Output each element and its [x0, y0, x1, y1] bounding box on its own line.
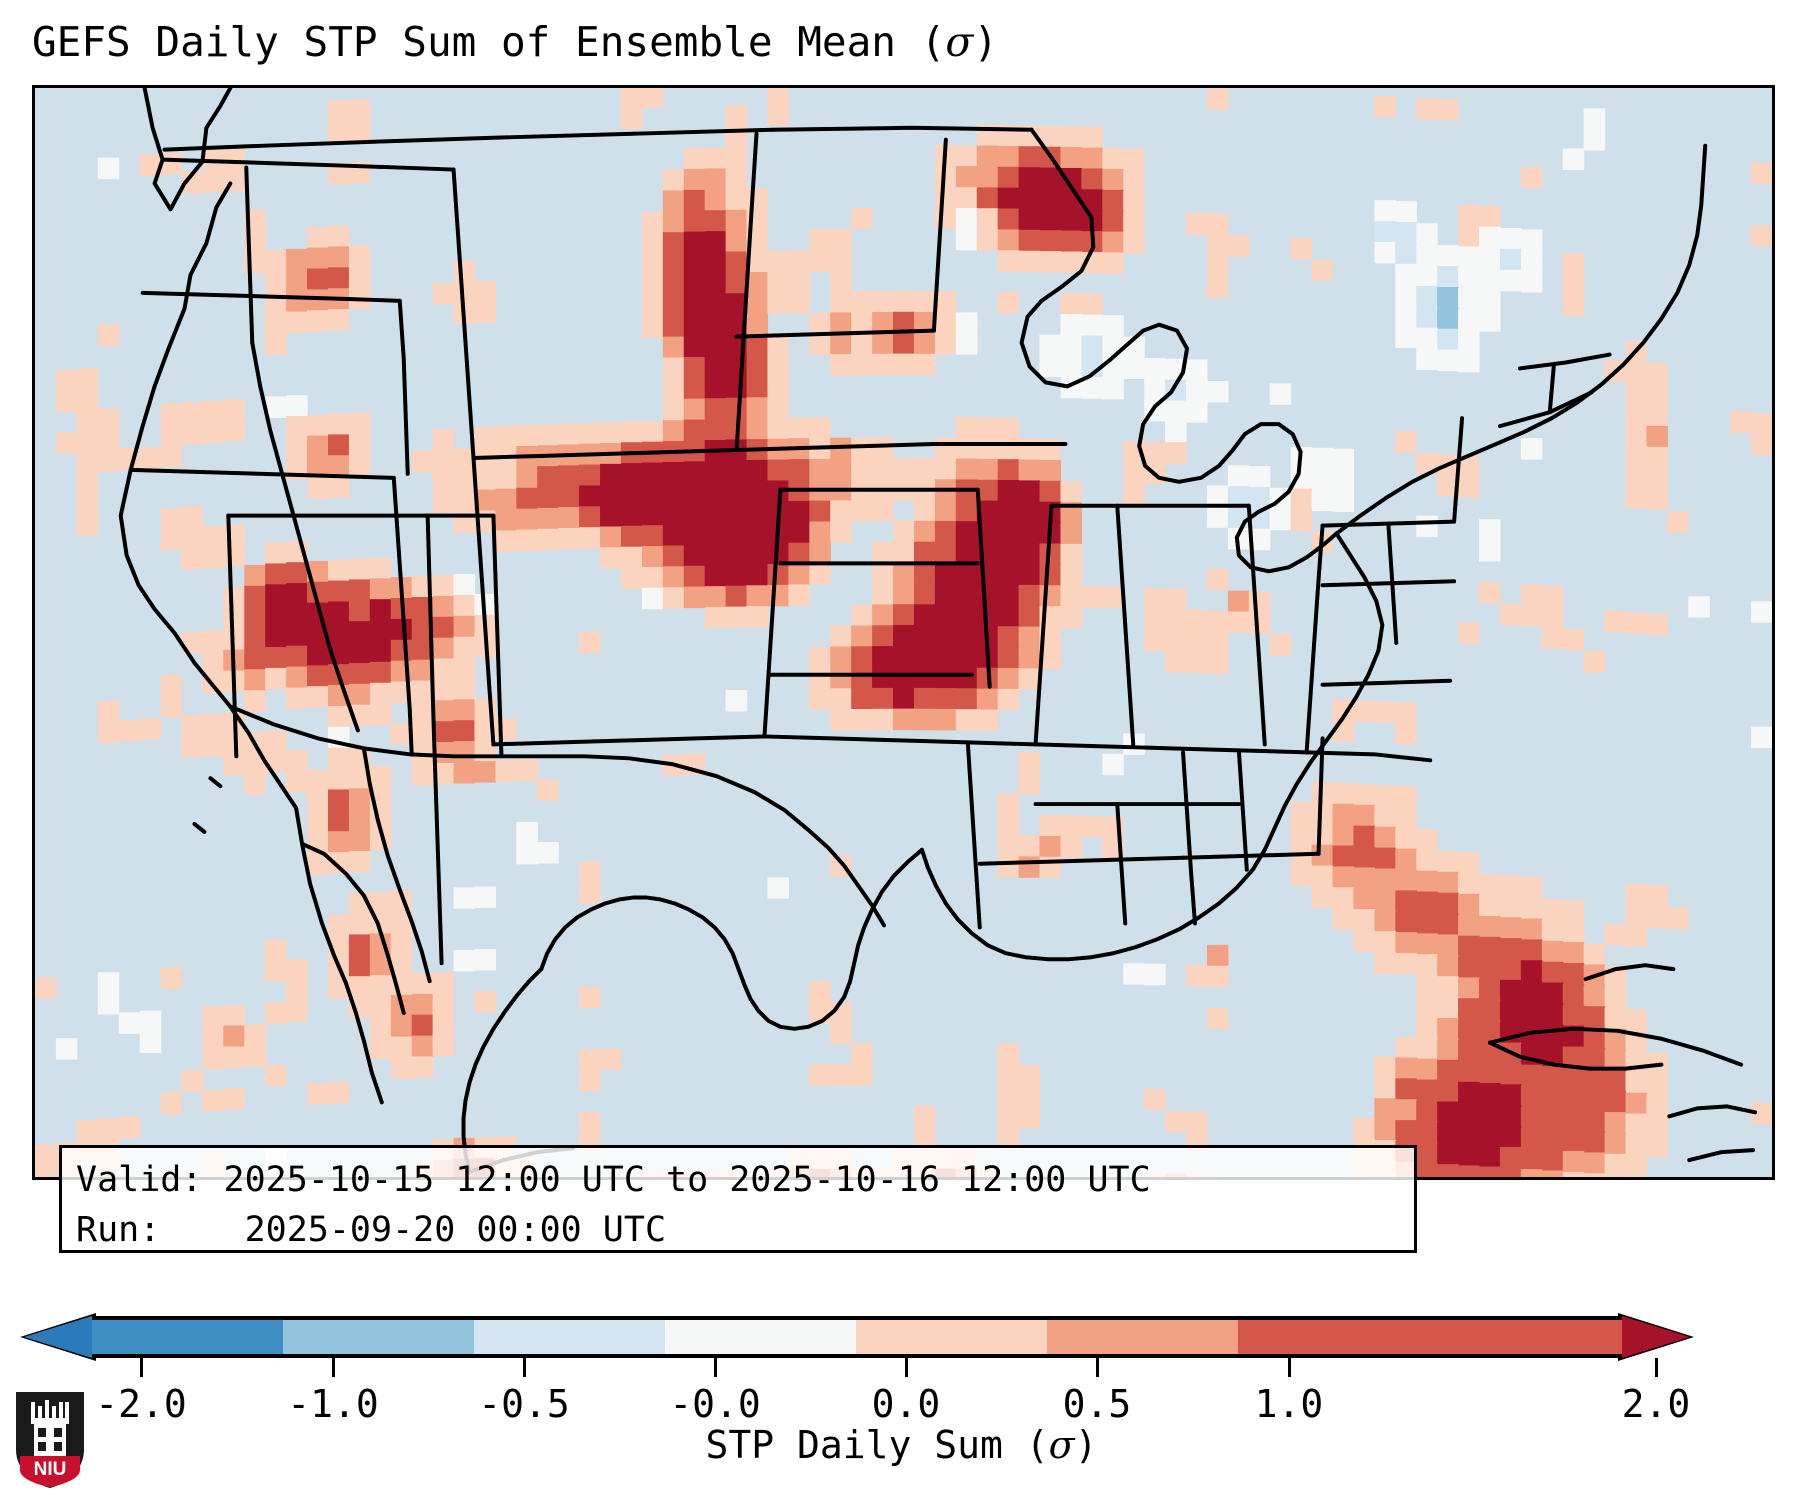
heatmap-cell — [181, 736, 203, 757]
heatmap-cell — [1249, 591, 1271, 612]
heatmap-cell — [705, 419, 727, 440]
heatmap-cell — [998, 689, 1020, 710]
heatmap-cell — [244, 628, 266, 649]
heatmap-cell — [1207, 256, 1229, 277]
heatmap-cell — [1395, 890, 1417, 911]
heatmap-cell — [265, 626, 287, 647]
heatmap-cell — [726, 105, 748, 126]
heatmap-cell — [1458, 267, 1480, 288]
heatmap-cell — [349, 559, 371, 580]
heatmap-cell — [956, 542, 978, 563]
heatmap-cell — [1019, 460, 1041, 481]
heatmap-cell — [1270, 634, 1292, 655]
colorbar-tick-label-7: 2.0 — [1622, 1382, 1691, 1426]
heatmap-cell — [1416, 1017, 1438, 1038]
heatmap-cell — [244, 669, 266, 690]
colorbar-segment-5 — [1047, 1320, 1238, 1354]
heatmap-cell — [1416, 871, 1438, 892]
heatmap-cell — [788, 250, 810, 271]
heatmap-cell — [1563, 253, 1585, 274]
heatmap-cell — [1102, 190, 1124, 211]
heatmap-cell — [998, 188, 1020, 209]
heatmap-cell — [1374, 96, 1396, 117]
heatmap-cell — [872, 437, 894, 458]
heatmap-cell — [998, 564, 1020, 585]
heatmap-cell — [1563, 1005, 1585, 1026]
heatmap-cell — [1542, 920, 1564, 941]
heatmap-cell — [1123, 190, 1145, 211]
heatmap-cell — [370, 683, 392, 704]
heatmap-cell — [1395, 1099, 1417, 1120]
heatmap-cell — [809, 313, 831, 334]
heatmap-cell — [1019, 522, 1041, 543]
heatmap-cell — [1500, 959, 1522, 980]
heatmap-cell — [1123, 358, 1145, 379]
colorbar-tick-label-6: 1.0 — [1255, 1382, 1324, 1426]
heatmap-cell — [914, 688, 936, 709]
heatmap-cell — [747, 356, 769, 377]
heatmap-cell — [1333, 783, 1355, 804]
heatmap-cell — [600, 464, 622, 485]
heatmap-cell — [391, 640, 413, 661]
heatmap-cell — [726, 586, 748, 607]
heatmap-cell — [579, 861, 601, 882]
heatmap-cell — [851, 625, 873, 646]
heatmap-cell — [1626, 487, 1648, 508]
colorbar-tick-label-0: -2.0 — [95, 1382, 187, 1426]
heatmap-cell — [579, 882, 601, 903]
heatmap-cell — [1458, 309, 1480, 330]
heatmap-cell — [809, 522, 831, 543]
heatmap-cell — [181, 1070, 203, 1091]
heatmap-cell — [1395, 431, 1417, 452]
heatmap-cell — [1395, 306, 1417, 327]
heatmap-cell — [1584, 108, 1606, 129]
heatmap-cell — [830, 1064, 852, 1085]
heatmap-cell — [788, 292, 810, 313]
heatmap-cell — [1458, 1082, 1480, 1103]
heatmap-cell — [705, 210, 727, 231]
heatmap-cell — [851, 1043, 873, 1064]
colorbar-tick-3 — [714, 1358, 717, 1377]
heatmap-cell — [872, 688, 894, 709]
heatmap-cell — [1458, 936, 1480, 957]
heatmap-cell — [1437, 350, 1459, 371]
heatmap-cell — [433, 638, 455, 659]
heatmap-cell — [998, 250, 1020, 271]
heatmap-cell — [1437, 1143, 1459, 1164]
heatmap-cell — [1374, 1056, 1396, 1077]
heatmap-cell — [1019, 480, 1041, 501]
heatmap-cell — [1019, 251, 1041, 272]
heatmap-cell — [1207, 485, 1229, 506]
heatmap-cell — [830, 688, 852, 709]
heatmap-cell — [1646, 1115, 1668, 1136]
heatmap-cell — [914, 291, 936, 312]
heatmap-cell — [454, 261, 476, 282]
heatmap-cell — [998, 1107, 1020, 1128]
heatmap-cell — [1437, 287, 1459, 308]
heatmap-cell — [1312, 886, 1334, 907]
heatmap-cell — [1416, 933, 1438, 954]
heatmap-cell — [412, 722, 434, 743]
heatmap-cell — [830, 709, 852, 730]
heatmap-cell — [935, 500, 957, 521]
heatmap-cell — [391, 619, 413, 640]
heatmap-cell — [1521, 981, 1543, 1002]
page-title-suffix: ) — [973, 18, 998, 66]
heatmap-cell — [956, 417, 978, 438]
heatmap-cell — [1060, 251, 1082, 272]
niu-banner-text: NIU — [34, 1459, 67, 1480]
heatmap-cell — [1458, 852, 1480, 873]
heatmap-cell — [726, 147, 748, 168]
heatmap-cell — [1584, 1111, 1606, 1132]
heatmap-cell — [1646, 906, 1668, 927]
heatmap-cell — [893, 333, 915, 354]
heatmap-cell — [181, 548, 203, 569]
heatmap-cell — [705, 315, 727, 336]
heatmap-cell — [579, 423, 601, 444]
heatmap-cell — [767, 585, 789, 606]
heatmap-cell — [1646, 1094, 1668, 1115]
heatmap-cell — [1312, 448, 1334, 469]
heatmap-cell — [433, 1014, 455, 1035]
heatmap-cell — [621, 547, 643, 568]
heatmap-cell — [1333, 490, 1355, 511]
heatmap-cell — [349, 684, 371, 705]
heatmap-cell — [809, 563, 831, 584]
colorbar-over-arrow — [1622, 1316, 1690, 1358]
heatmap-cell — [1730, 412, 1752, 433]
heatmap-cell — [1165, 588, 1187, 609]
heatmap-cell — [767, 292, 789, 313]
heatmap-cell — [537, 842, 559, 863]
heatmap-cell — [1605, 1070, 1627, 1091]
heatmap-cell — [600, 422, 622, 443]
heatmap-cell — [1542, 1150, 1564, 1171]
heatmap-cell — [642, 275, 664, 296]
heatmap-cell — [935, 646, 957, 667]
heatmap-cell — [1353, 700, 1375, 721]
heatmap-cell — [809, 229, 831, 250]
heatmap-cell — [1605, 1133, 1627, 1154]
heatmap-cell — [684, 524, 706, 545]
heatmap-cell — [1395, 786, 1417, 807]
heatmap-cell — [1102, 378, 1124, 399]
heatmap-cell — [1646, 384, 1668, 405]
heatmap-cell — [77, 452, 99, 473]
heatmap-cell — [935, 437, 957, 458]
heatmap-cell — [286, 416, 308, 437]
heatmap-cell — [705, 503, 727, 524]
heatmap-cell — [328, 915, 350, 936]
heatmap-cell — [1500, 1168, 1522, 1177]
heatmap-cell — [893, 625, 915, 646]
heatmap-cell — [202, 526, 224, 547]
heatmap-cell — [1605, 1175, 1627, 1177]
heatmap-cell — [1479, 999, 1501, 1020]
heatmap-cell — [1437, 893, 1459, 914]
heatmap-cell — [956, 229, 978, 250]
heatmap-cell — [1207, 1008, 1229, 1029]
heatmap-cell — [977, 417, 999, 438]
heatmap-cell — [286, 395, 308, 416]
heatmap-cell — [1479, 248, 1501, 269]
niu-logo: NIU — [14, 1390, 86, 1490]
heatmap-cell — [433, 429, 455, 450]
heatmap-cell — [1542, 899, 1564, 920]
heatmap-cell — [830, 354, 852, 375]
heatmap-cell — [1395, 201, 1417, 222]
heatmap-cell — [223, 420, 245, 441]
heatmap-cell — [244, 648, 266, 669]
heatmap-cell — [851, 688, 873, 709]
heatmap-cell — [1500, 1105, 1522, 1126]
heatmap-cell — [956, 500, 978, 521]
heatmap-cell — [1123, 483, 1145, 504]
heatmap-cell — [1479, 269, 1501, 290]
heatmap-cell — [328, 560, 350, 581]
heatmap-cell — [1500, 1001, 1522, 1022]
heatmap-cell — [1584, 944, 1606, 965]
heatmap-cell — [1312, 824, 1334, 845]
heatmap-cell — [747, 418, 769, 439]
heatmap-cell — [1291, 802, 1313, 823]
heatmap-cell — [1040, 251, 1062, 272]
heatmap-cell — [872, 500, 894, 521]
heatmap-cell — [223, 148, 245, 169]
heatmap-cell — [1479, 1167, 1501, 1177]
heatmap-cell — [998, 605, 1020, 626]
heatmap-cell — [1751, 163, 1772, 184]
heatmap-cell — [1584, 1090, 1606, 1111]
heatmap-cell — [935, 187, 957, 208]
heatmap-cell — [1626, 424, 1648, 445]
heatmap-cell — [830, 459, 852, 480]
heatmap-cell — [1458, 351, 1480, 372]
heatmap-cell — [1626, 1093, 1648, 1114]
heatmap-cell — [600, 526, 622, 547]
heatmap-cell — [307, 248, 329, 269]
heatmap-cell — [537, 508, 559, 529]
heatmap-cell — [998, 543, 1020, 564]
heatmap-cell — [1395, 1057, 1417, 1078]
heatmap-cell — [474, 991, 496, 1012]
heatmap-cell — [684, 294, 706, 315]
heatmap-cell — [412, 1036, 434, 1057]
heatmap-cell — [998, 626, 1020, 647]
heatmap-cell — [1751, 225, 1772, 246]
heatmap-cell — [872, 563, 894, 584]
heatmap-cell — [1019, 209, 1041, 230]
colorbar-tick-1 — [332, 1358, 335, 1377]
heatmap-cell — [684, 545, 706, 566]
heatmap-cell — [726, 377, 748, 398]
heatmap-cell — [1584, 1132, 1606, 1153]
heatmap-cell — [1500, 1084, 1522, 1105]
heatmap-cell — [265, 960, 287, 981]
heatmap-cell — [1040, 356, 1062, 377]
heatmap-cell — [1060, 147, 1082, 168]
heatmap-cell — [788, 522, 810, 543]
heatmap-cell — [1542, 1087, 1564, 1108]
heatmap-cell — [1479, 227, 1501, 248]
heatmap-cell — [1353, 867, 1375, 888]
heatmap-cell — [1416, 892, 1438, 913]
heatmap-cell — [1458, 1103, 1480, 1124]
heatmap-cell — [412, 701, 434, 722]
heatmap-cell — [1479, 519, 1501, 540]
heatmap-cell — [684, 482, 706, 503]
heatmap-cell — [747, 543, 769, 564]
heatmap-cell — [1144, 358, 1166, 379]
heatmap-cell — [1479, 979, 1501, 1000]
heatmap-cell — [1353, 1118, 1375, 1139]
heatmap-cell — [1060, 586, 1082, 607]
heatmap-cell — [1500, 270, 1522, 291]
heatmap-cell — [998, 438, 1020, 459]
heatmap-cell — [998, 292, 1020, 313]
heatmap-cell — [1395, 869, 1417, 890]
heatmap-cell — [286, 437, 308, 458]
heatmap-cell — [956, 626, 978, 647]
heatmap-cell — [914, 521, 936, 542]
heatmap-cell — [747, 502, 769, 523]
heatmap-cell — [1626, 1072, 1648, 1093]
heatmap-cell — [516, 530, 538, 551]
heatmap-cell — [1060, 836, 1082, 857]
heatmap-cell — [202, 401, 224, 422]
heatmap-cell — [726, 690, 748, 711]
heatmap-cell — [349, 99, 371, 120]
heatmap-cell — [1374, 1098, 1396, 1119]
heatmap-cell — [1626, 383, 1648, 404]
heatmap-cell — [537, 487, 559, 508]
heatmap-cell — [1416, 286, 1438, 307]
heatmap-cell — [998, 229, 1020, 250]
heatmap-cell — [872, 458, 894, 479]
heatmap-cell — [935, 458, 957, 479]
heatmap-cell — [328, 769, 350, 790]
heatmap-cell — [872, 354, 894, 375]
colorbar[interactable]: -2.0-1.0-0.5-0.00.00.51.02.0 — [0, 1316, 1803, 1362]
heatmap-cell — [872, 542, 894, 563]
heatmap-cell — [1563, 1130, 1585, 1151]
heatmap-cell — [1521, 1065, 1543, 1086]
heatmap-cell — [1646, 614, 1668, 635]
heatmap-cell — [872, 291, 894, 312]
heatmap-cell — [474, 427, 496, 448]
heatmap-cell — [600, 506, 622, 527]
heatmap-cell — [872, 333, 894, 354]
heatmap-cell — [788, 564, 810, 585]
heatmap-cell — [788, 543, 810, 564]
heatmap-cell — [286, 771, 308, 792]
heatmap-cell — [1207, 277, 1229, 298]
heatmap-cell — [202, 735, 224, 756]
page-title-text: GEFS Daily STP Sum of Ensemble Mean ( — [32, 18, 945, 66]
heatmap-cell — [1123, 963, 1145, 984]
heatmap-cell — [223, 608, 245, 629]
heatmap-cell — [140, 447, 162, 468]
heatmap-cell — [1333, 887, 1355, 908]
heatmap-cell — [558, 486, 580, 507]
heatmap-cell — [1646, 468, 1668, 489]
heatmap-cell — [1437, 266, 1459, 287]
heatmap-cell — [1102, 587, 1124, 608]
heatmap-cell — [977, 459, 999, 480]
heatmap-cell — [1060, 481, 1082, 502]
heatmap-cell — [1312, 260, 1334, 281]
heatmap-cell — [349, 788, 371, 809]
heatmap-cell — [998, 647, 1020, 668]
heatmap-cell — [914, 625, 936, 646]
heatmap-cell — [1040, 481, 1062, 502]
heatmap-cell — [1584, 651, 1606, 672]
heatmap-cell — [579, 527, 601, 548]
heatmap-cell — [1751, 727, 1772, 748]
heatmap-cell — [328, 831, 350, 852]
heatmap-cell — [1437, 1060, 1459, 1081]
heatmap-cell — [433, 471, 455, 492]
heatmap-cell — [747, 397, 769, 418]
heatmap-cell — [1395, 953, 1417, 974]
heatmap-cell — [1646, 489, 1668, 510]
heatmap-cell — [1563, 942, 1585, 963]
heatmap-cell — [642, 483, 664, 504]
heatmap-cell — [1479, 206, 1501, 227]
heatmap-cell — [286, 750, 308, 771]
heatmap-cell — [851, 667, 873, 688]
heatmap-cell — [1395, 326, 1417, 347]
heatmap-cell — [956, 166, 978, 187]
heatmap-cell — [1542, 586, 1564, 607]
heatmap-cell — [1353, 805, 1375, 826]
heatmap-cell — [1605, 1112, 1627, 1133]
heatmap-cell — [495, 468, 517, 489]
heatmap-cell — [893, 709, 915, 730]
heatmap-cell — [809, 668, 831, 689]
heatmap-cell — [1019, 167, 1041, 188]
heatmap-cell — [433, 659, 455, 680]
heatmap-cell — [1060, 335, 1082, 356]
heatmap-cell — [747, 606, 769, 627]
heatmap-cell — [705, 356, 727, 377]
heatmap-cell — [1060, 544, 1082, 565]
heatmap-cell — [433, 700, 455, 721]
heatmap-cell — [1353, 909, 1375, 930]
heatmap-cell — [161, 424, 183, 445]
heatmap-cell — [1416, 244, 1438, 265]
heatmap-cell — [1563, 900, 1585, 921]
heatmap-cell — [1333, 470, 1355, 491]
heatmap-cell — [244, 774, 266, 795]
heatmap-cell — [935, 584, 957, 605]
heatmap-cell — [1646, 426, 1668, 447]
heatmap-cell — [202, 651, 224, 672]
heatmap-cell — [56, 433, 78, 454]
heatmap-cell — [956, 605, 978, 626]
heatmap-cell — [307, 269, 329, 290]
heatmap-cell — [516, 759, 538, 780]
heatmap-cell — [663, 545, 685, 566]
heatmap-cell — [1040, 209, 1062, 230]
heatmap-cell — [1270, 509, 1292, 530]
heatmap-cell — [1207, 945, 1229, 966]
heatmap-cell — [454, 658, 476, 679]
colorbar-segment-0 — [92, 1320, 283, 1354]
